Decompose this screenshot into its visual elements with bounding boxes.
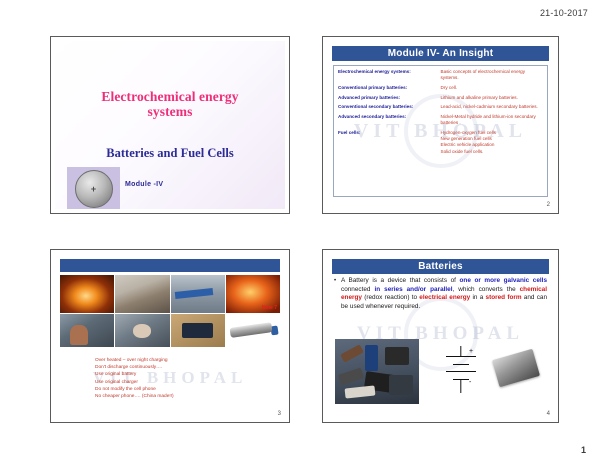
table-cell-value: Lithium and alkaline primary batteries. — [441, 95, 544, 101]
assorted-batteries-photo — [335, 339, 419, 404]
table-cell-value: Basic concepts of electrochemical energy… — [441, 69, 544, 81]
battery-shape — [385, 347, 409, 365]
battery-definition-text: A Battery is a device that consists of o… — [334, 277, 547, 311]
battery-definition-paragraph: • A Battery is a device that consists of… — [334, 277, 547, 311]
symbol-long-plate-2 — [446, 371, 476, 372]
document-page-number: 1 — [581, 445, 586, 455]
symbol-lead-top — [460, 346, 461, 356]
slide-3-header — [60, 259, 280, 272]
symbol-long-plate-1 — [446, 356, 476, 357]
table-cell-value: Nickel-Metal hydride and lithium-ion sec… — [441, 114, 544, 126]
table-cell-value-line: Lithium and alkaline primary batteries. — [441, 95, 544, 101]
photo-row-top: Note 7 — [60, 275, 280, 313]
exploded-device-in-hand-photo — [115, 275, 169, 313]
slide-2-content: Module IV- An Insight VIT BHOPAL Electro… — [327, 41, 554, 209]
table-row: Conventional primary batteries: Dry cell… — [338, 85, 543, 91]
slide-4-number: 4 — [547, 411, 550, 417]
slide-1-module-label: Module -IV — [125, 181, 163, 188]
list-item: Over heated – over night charging — [95, 357, 277, 364]
coin-cell-battery-image — [67, 167, 120, 209]
table-row: Conventional secondary batteries: Lead-a… — [338, 104, 543, 110]
plus-sign: + — [469, 348, 473, 355]
module-overview-table: VIT BHOPAL Electrochemical energy system… — [333, 65, 548, 197]
document-date: 21-10-2017 — [540, 8, 588, 18]
slide-1[interactable]: Electrochemical energy systems Batteries… — [50, 36, 290, 214]
table-row: Electrochemical energy systems: Basic co… — [338, 69, 543, 81]
damaged-mobile-phone-photo — [171, 314, 225, 347]
slide-1-subtitle: Batteries and Fuel Cells — [67, 146, 273, 161]
segment-plain: connected — [341, 286, 374, 293]
slide-3-content: Note 7 VIT BHOPAL Over h — [55, 254, 285, 418]
battery-shape — [345, 385, 376, 398]
list-item: Use original charger — [95, 379, 277, 386]
cylindrical-battery-photo — [226, 314, 280, 347]
segment-red: stored form — [486, 294, 522, 301]
man-with-eye-patch-photo — [115, 314, 169, 347]
segment-plain: A Battery is a device that consists of — [341, 277, 460, 284]
slide-3-number: 3 — [278, 411, 281, 417]
table-cell-key: Conventional primary batteries: — [338, 85, 441, 91]
table-cell-value-line: Dry cell. — [441, 85, 544, 91]
list-item: Don't discharge continuously…. — [95, 364, 277, 371]
symbol-lead-bottom — [460, 379, 461, 393]
battery-circuit-symbol: + - — [439, 346, 483, 398]
slide-1-title: Electrochemical energy systems — [67, 89, 273, 119]
table-cell-key: Electrochemical energy systems: — [338, 69, 441, 81]
photo-row-bottom — [60, 314, 280, 347]
slide-4[interactable]: Batteries VIT BHOPAL • A Battery is a de… — [322, 249, 559, 423]
segment-plain: , which converts the — [453, 286, 520, 293]
slide-4-header: Batteries — [332, 259, 549, 274]
safety-tips-list: Over heated – over night charging Don't … — [95, 357, 277, 400]
table-cell-key: Advanced secondary batteries: — [338, 114, 441, 126]
slide-2[interactable]: Module IV- An Insight VIT BHOPAL Electro… — [322, 36, 559, 214]
burning-laptop-photo — [60, 275, 114, 313]
segment-red: electrical energy — [419, 294, 470, 301]
table-cell-value: Lead-acid, nickel-cadmium secondary batt… — [441, 104, 544, 110]
segment-plain: in a — [470, 294, 485, 301]
table-cell-value-line: Solid oxide fuel cells. — [441, 149, 544, 155]
battery-shape — [338, 368, 364, 386]
battery-shape — [340, 344, 364, 362]
table-row: Advanced primary batteries: Lithium and … — [338, 95, 543, 101]
table-cell-value-line: Nickel-Metal hydride and lithium-ion sec… — [441, 114, 544, 126]
bullet-icon: • — [334, 277, 336, 286]
battery-shape — [389, 375, 413, 395]
coin-cell-icon — [75, 170, 113, 208]
table-row: Advanced secondary batteries: Nickel-Met… — [338, 114, 543, 126]
incident-photo-grid: Note 7 — [60, 275, 280, 347]
list-item: Do not modify the cell phone — [95, 386, 277, 393]
list-item: No cheaper phone…. (China made!!) — [95, 393, 277, 400]
injured-man-on-phone-photo — [60, 314, 114, 347]
minus-sign: - — [469, 379, 471, 386]
slide-1-title-line1: Electrochemical energy — [101, 89, 238, 104]
slide-1-content: Electrochemical energy systems Batteries… — [55, 41, 285, 209]
segment-blue: in series and/or parallel — [374, 286, 452, 293]
slide-2-number: 2 — [547, 202, 550, 208]
table-cell-value: Hydrogen-oxygen fuel cells New generatio… — [441, 130, 544, 155]
slide-3[interactable]: Note 7 VIT BHOPAL Over h — [50, 249, 290, 423]
table-cell-value-line: Basic concepts of electrochemical energy… — [441, 69, 544, 81]
symbol-short-plate-1 — [453, 364, 469, 365]
battery-shape — [365, 345, 378, 371]
table-cell-key: Advanced primary batteries: — [338, 95, 441, 101]
table-cell-key: Conventional secondary batteries: — [338, 104, 441, 110]
table-cell-value-line: Lead-acid, nickel-cadmium secondary batt… — [441, 104, 544, 110]
note-7-fire-photo: Note 7 — [226, 275, 280, 313]
slide-2-header: Module IV- An Insight — [332, 46, 549, 61]
laptop-battery-pack-photo — [492, 349, 540, 387]
slide-4-content: Batteries VIT BHOPAL • A Battery is a de… — [327, 254, 554, 418]
slide-1-title-line2: systems — [148, 104, 193, 119]
document-page: 21-10-2017 Electrochemical energy system… — [0, 0, 600, 464]
airplane-on-tarmac-photo — [171, 275, 225, 313]
table-cell-value: Dry cell. — [441, 85, 544, 91]
segment-blue: one or more galvanic cells — [460, 277, 547, 284]
note-7-label: Note 7 — [262, 305, 277, 311]
eye-patch-shape — [134, 327, 143, 331]
list-item: Use original battery — [95, 371, 277, 378]
battery-cap-shape — [271, 325, 279, 334]
segment-plain: (redox reaction) to — [362, 294, 419, 301]
table-row: Fuel cells: Hydrogen-oxygen fuel cells N… — [338, 130, 543, 155]
table-cell-key: Fuel cells: — [338, 130, 441, 155]
